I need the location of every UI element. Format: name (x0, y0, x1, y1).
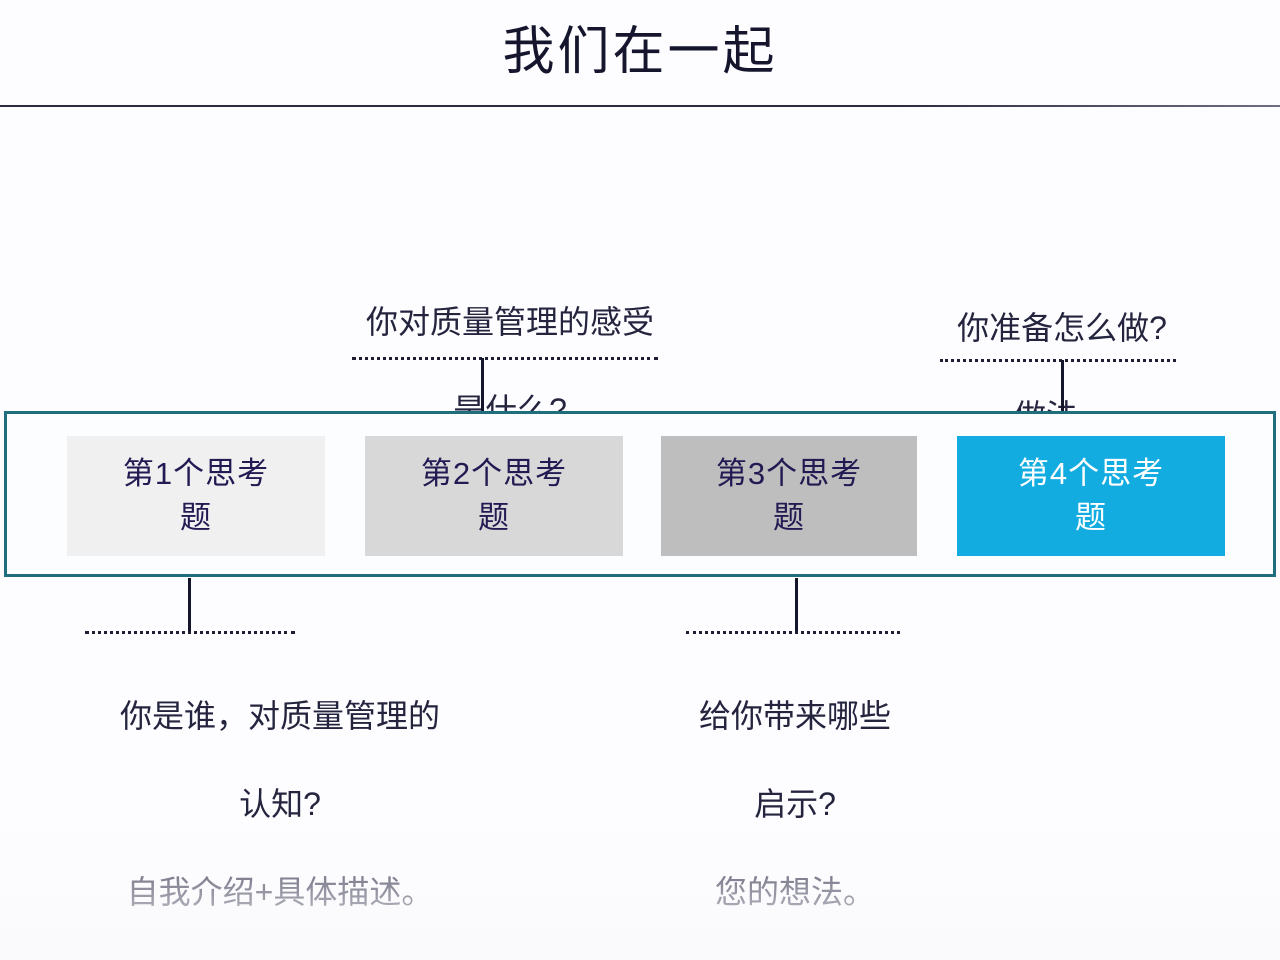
callout-bottom-left-line1: 你是谁，对质量管理的 (20, 694, 540, 738)
callout-bottom-right-line2: 启示? (600, 782, 990, 826)
callout-bottom-left: 你是谁，对质量管理的 认知? 自我介绍+具体描述。 (20, 650, 540, 958)
thinking-box-3[interactable]: 第3个思考 题 (661, 436, 917, 556)
thinking-questions-frame: 第1个思考 题 第2个思考 题 第3个思考 题 第4个思考 题 (4, 411, 1276, 577)
callout-top-right-line1: 你准备怎么做? (862, 306, 1262, 350)
callout-bottom-right-dotted-leader (686, 631, 900, 634)
thinking-box-3-line1: 第3个思考 (716, 452, 862, 496)
callout-top-center-dotted-leader (352, 357, 658, 360)
callout-bottom-left-stem (188, 578, 191, 631)
callout-top-right-stem (1061, 360, 1064, 413)
title-divider (0, 105, 1280, 107)
title-bar: 我们在一起 (0, 0, 1280, 107)
callout-bottom-right: 给你带来哪些 启示? 您的想法。 (600, 650, 990, 958)
thinking-box-2[interactable]: 第2个思考 题 (365, 436, 623, 556)
callout-bottom-right-line3: 您的想法。 (600, 870, 990, 914)
thinking-box-4-line1: 第4个思考 (1018, 452, 1164, 496)
page-title: 我们在一起 (0, 22, 1280, 84)
callout-bottom-right-line1: 给你带来哪些 (600, 694, 990, 738)
thinking-box-2-line1: 第2个思考 (421, 452, 567, 496)
thinking-box-1-line1: 第1个思考 (123, 452, 269, 496)
callout-bottom-left-line2: 认知? (20, 782, 540, 826)
callout-bottom-left-dotted-leader (85, 631, 295, 634)
slide-canvas: 我们在一起 你对质量管理的感受 是什么? 你准备怎么做? 做法。 第1个思考 题… (0, 0, 1280, 960)
callout-bottom-right-stem (795, 578, 798, 631)
thinking-box-4[interactable]: 第4个思考 题 (957, 436, 1225, 556)
callout-top-center-stem (481, 358, 484, 413)
thinking-box-1[interactable]: 第1个思考 题 (67, 436, 325, 556)
callout-top-center-line1: 你对质量管理的感受 (250, 300, 770, 344)
callout-bottom-left-line3: 自我介绍+具体描述。 (20, 870, 540, 914)
thinking-box-4-line2: 题 (1018, 496, 1164, 540)
thinking-box-2-line2: 题 (421, 496, 567, 540)
thinking-questions-row: 第1个思考 题 第2个思考 题 第3个思考 题 第4个思考 题 (7, 414, 1273, 574)
thinking-box-1-line2: 题 (123, 496, 269, 540)
callout-top-right-dotted-leader (940, 359, 1176, 362)
thinking-box-3-line2: 题 (716, 496, 862, 540)
